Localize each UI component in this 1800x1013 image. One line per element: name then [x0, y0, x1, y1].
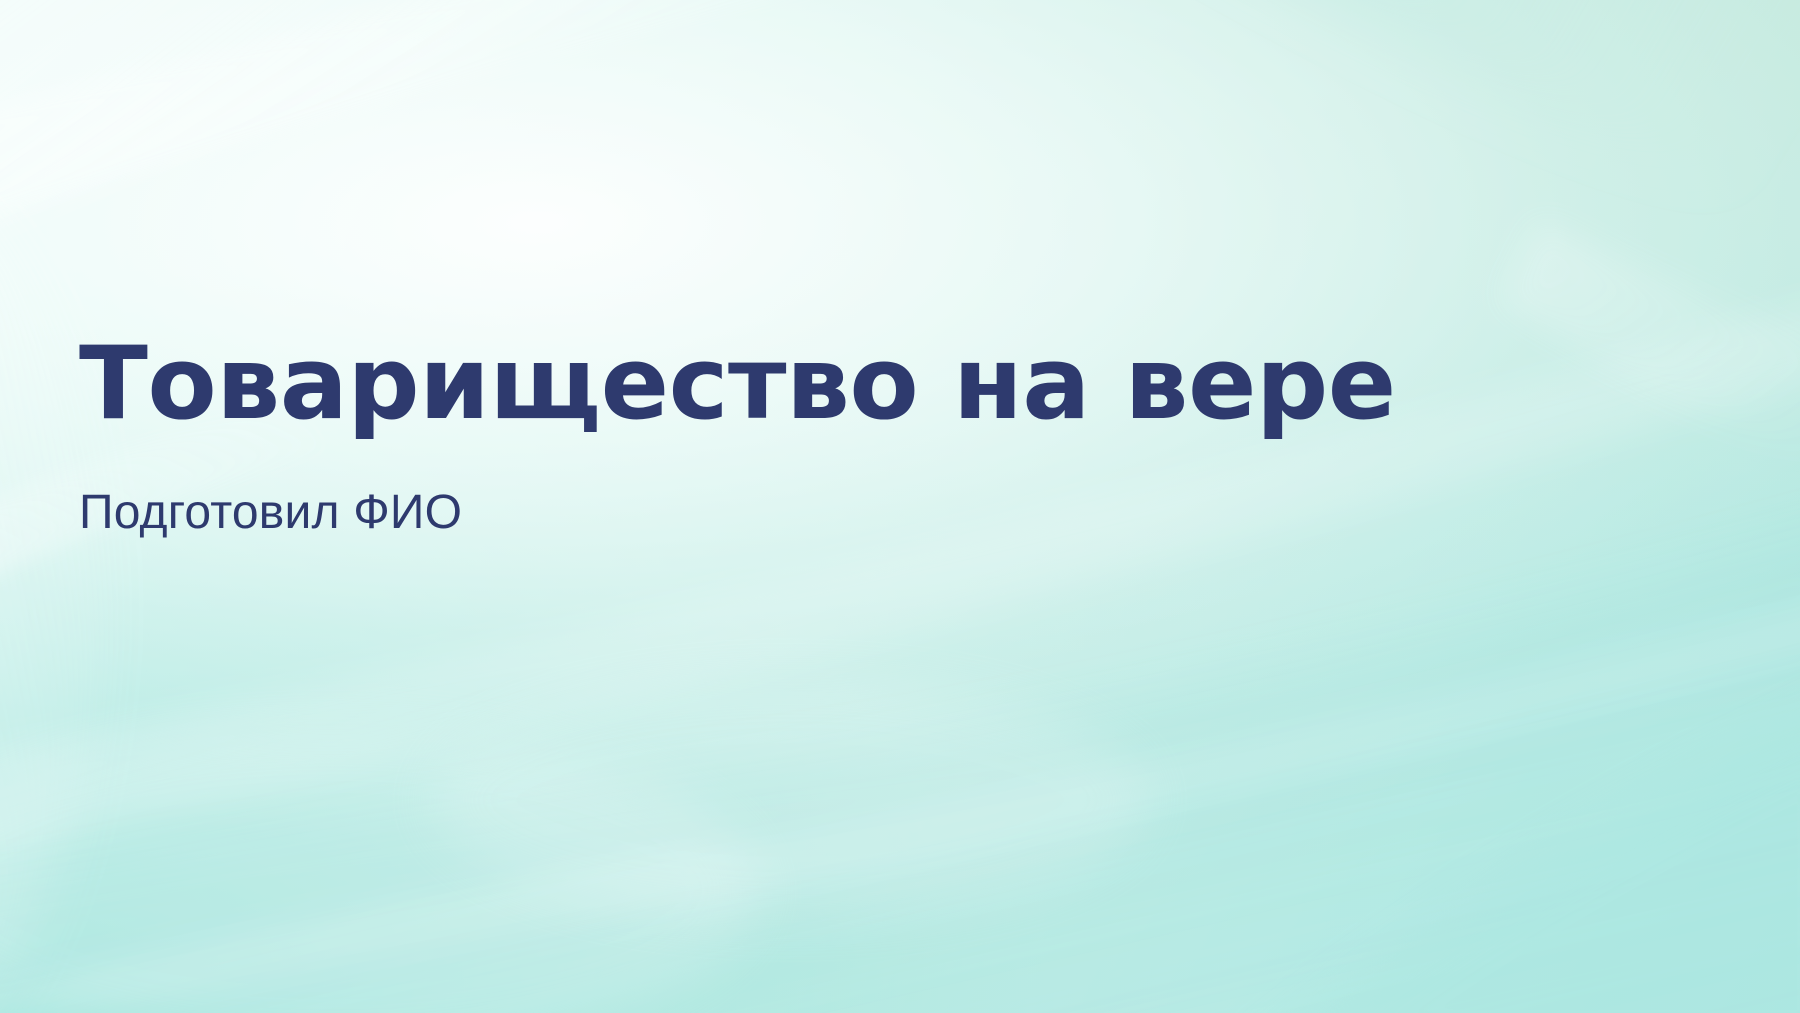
title-slide: Товарищество на вере Подготовил ФИО	[0, 0, 1800, 1013]
slide-subtitle-author: Подготовил ФИО	[79, 437, 1639, 540]
page-title: Товарищество на вере	[79, 330, 1639, 437]
title-text-block: Товарищество на вере Подготовил ФИО	[79, 330, 1639, 540]
